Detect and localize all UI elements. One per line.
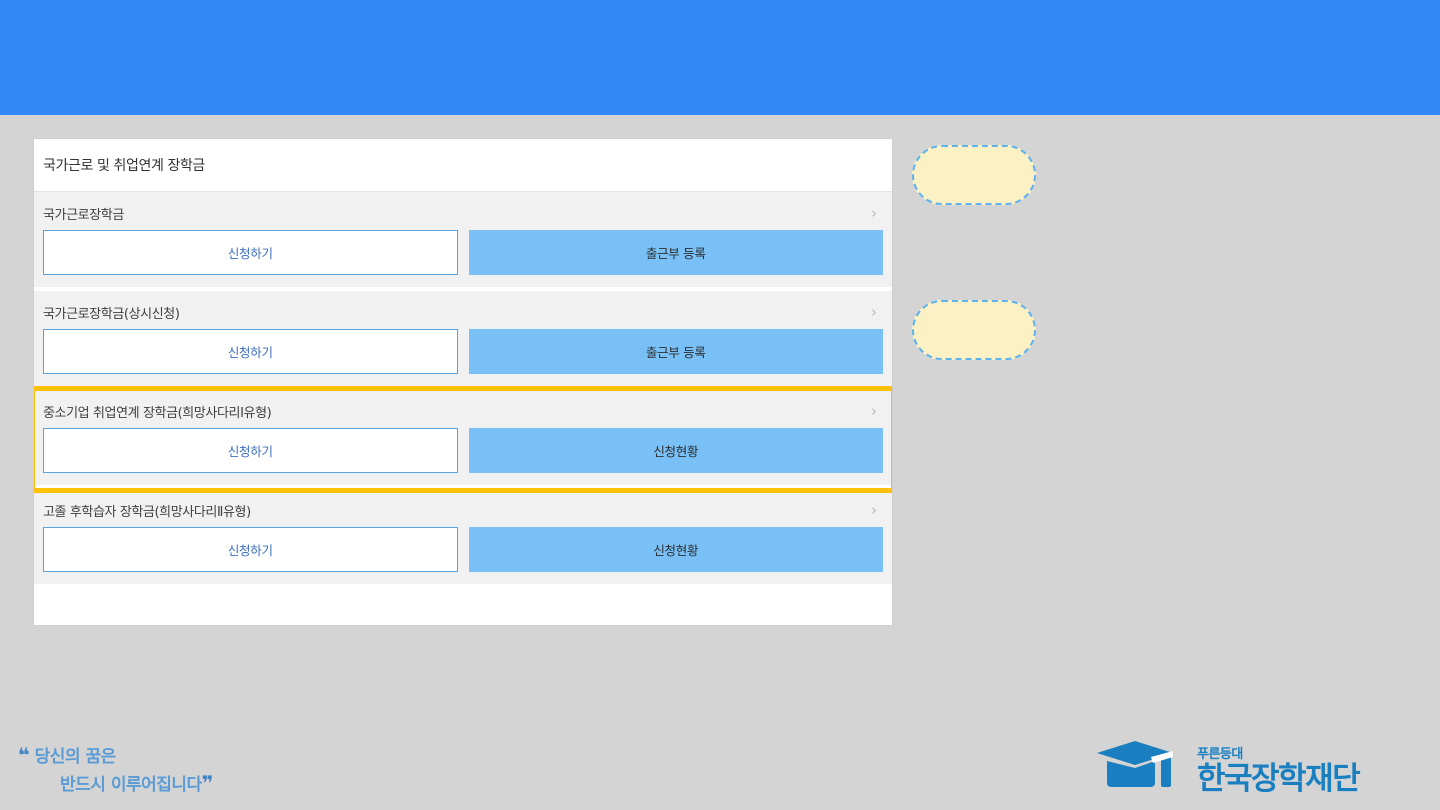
brand-sub-name: 푸른등대 [1197, 748, 1359, 761]
top-blue-bar [0, 0, 1440, 115]
scholarship-row-highlighted[interactable]: 중소기업 취업연계 장학금(희망사다리Ⅰ유형) › 신청하기 신청현황 [34, 390, 892, 489]
chevron-right-icon[interactable]: › [871, 503, 883, 518]
slogan-close-quote: ❞ [202, 771, 213, 795]
row-label: 고졸 후학습자 장학금(희망사다리Ⅱ유형) [43, 501, 251, 520]
attendance-register-button[interactable]: 출근부 등록 [469, 329, 884, 374]
slogan-line-2: 반드시 이루어집니다 [18, 772, 202, 798]
scholarship-panel: 국가근로 및 취업연계 장학금 국가근로장학금 › 신청하기 출근부 등록 국가… [33, 138, 893, 626]
row-actions: 신청하기 신청현황 [43, 527, 883, 584]
row-label: 국가근로장학금(상시신청) [43, 303, 180, 322]
row-actions: 신청하기 출근부 등록 [43, 230, 883, 287]
graduation-cap-icon [1095, 737, 1187, 795]
application-status-button[interactable]: 신청현황 [469, 428, 884, 473]
scholarship-row-list: 국가근로장학금 › 신청하기 출근부 등록 국가근로장학금(상시신청) › 신청… [34, 192, 892, 584]
row-header[interactable]: 국가근로장학금 › [43, 192, 883, 230]
row-header[interactable]: 고졸 후학습자 장학금(희망사다리Ⅱ유형) › [43, 489, 883, 527]
page-title: 국가근로 및 취업연계 장학금 [43, 155, 205, 175]
row-header[interactable]: 국가근로장학금(상시신청) › [43, 291, 883, 329]
scholarship-row[interactable]: 국가근로장학금 › 신청하기 출근부 등록 [34, 192, 892, 291]
chevron-right-icon[interactable]: › [871, 404, 883, 419]
slogan-line-1: 당신의 꿈은 [35, 747, 116, 767]
apply-button[interactable]: 신청하기 [43, 527, 458, 572]
attendance-register-button[interactable]: 출근부 등록 [469, 230, 884, 275]
row-label: 중소기업 취업연계 장학금(희망사다리Ⅰ유형) [43, 402, 271, 421]
brand-text: 푸른등대 한국장학재단 [1197, 748, 1359, 795]
apply-button[interactable]: 신청하기 [43, 428, 458, 473]
chevron-right-icon[interactable]: › [871, 206, 883, 221]
brand-logo: 푸른등대 한국장학재단 [1095, 737, 1359, 795]
panel-header: 국가근로 및 취업연계 장학금 [34, 139, 892, 192]
footer-slogan: ❝ 당신의 꿈은 반드시 이루어집니다❞ [18, 742, 213, 798]
brand-main-name: 한국장학재단 [1197, 764, 1359, 795]
annotation-callout-1 [912, 145, 1036, 205]
row-actions: 신청하기 신청현황 [43, 428, 883, 485]
slogan-open-quote: ❝ [18, 743, 29, 767]
application-status-button[interactable]: 신청현황 [469, 527, 884, 572]
row-label: 국가근로장학금 [43, 204, 124, 223]
apply-button[interactable]: 신청하기 [43, 230, 458, 275]
apply-button[interactable]: 신청하기 [43, 329, 458, 374]
scholarship-row[interactable]: 고졸 후학습자 장학금(희망사다리Ⅱ유형) › 신청하기 신청현황 [34, 489, 892, 584]
row-header[interactable]: 중소기업 취업연계 장학금(희망사다리Ⅰ유형) › [43, 390, 883, 428]
chevron-right-icon[interactable]: › [871, 305, 883, 320]
row-actions: 신청하기 출근부 등록 [43, 329, 883, 386]
annotation-callout-2 [912, 300, 1036, 360]
scholarship-row[interactable]: 국가근로장학금(상시신청) › 신청하기 출근부 등록 [34, 291, 892, 390]
